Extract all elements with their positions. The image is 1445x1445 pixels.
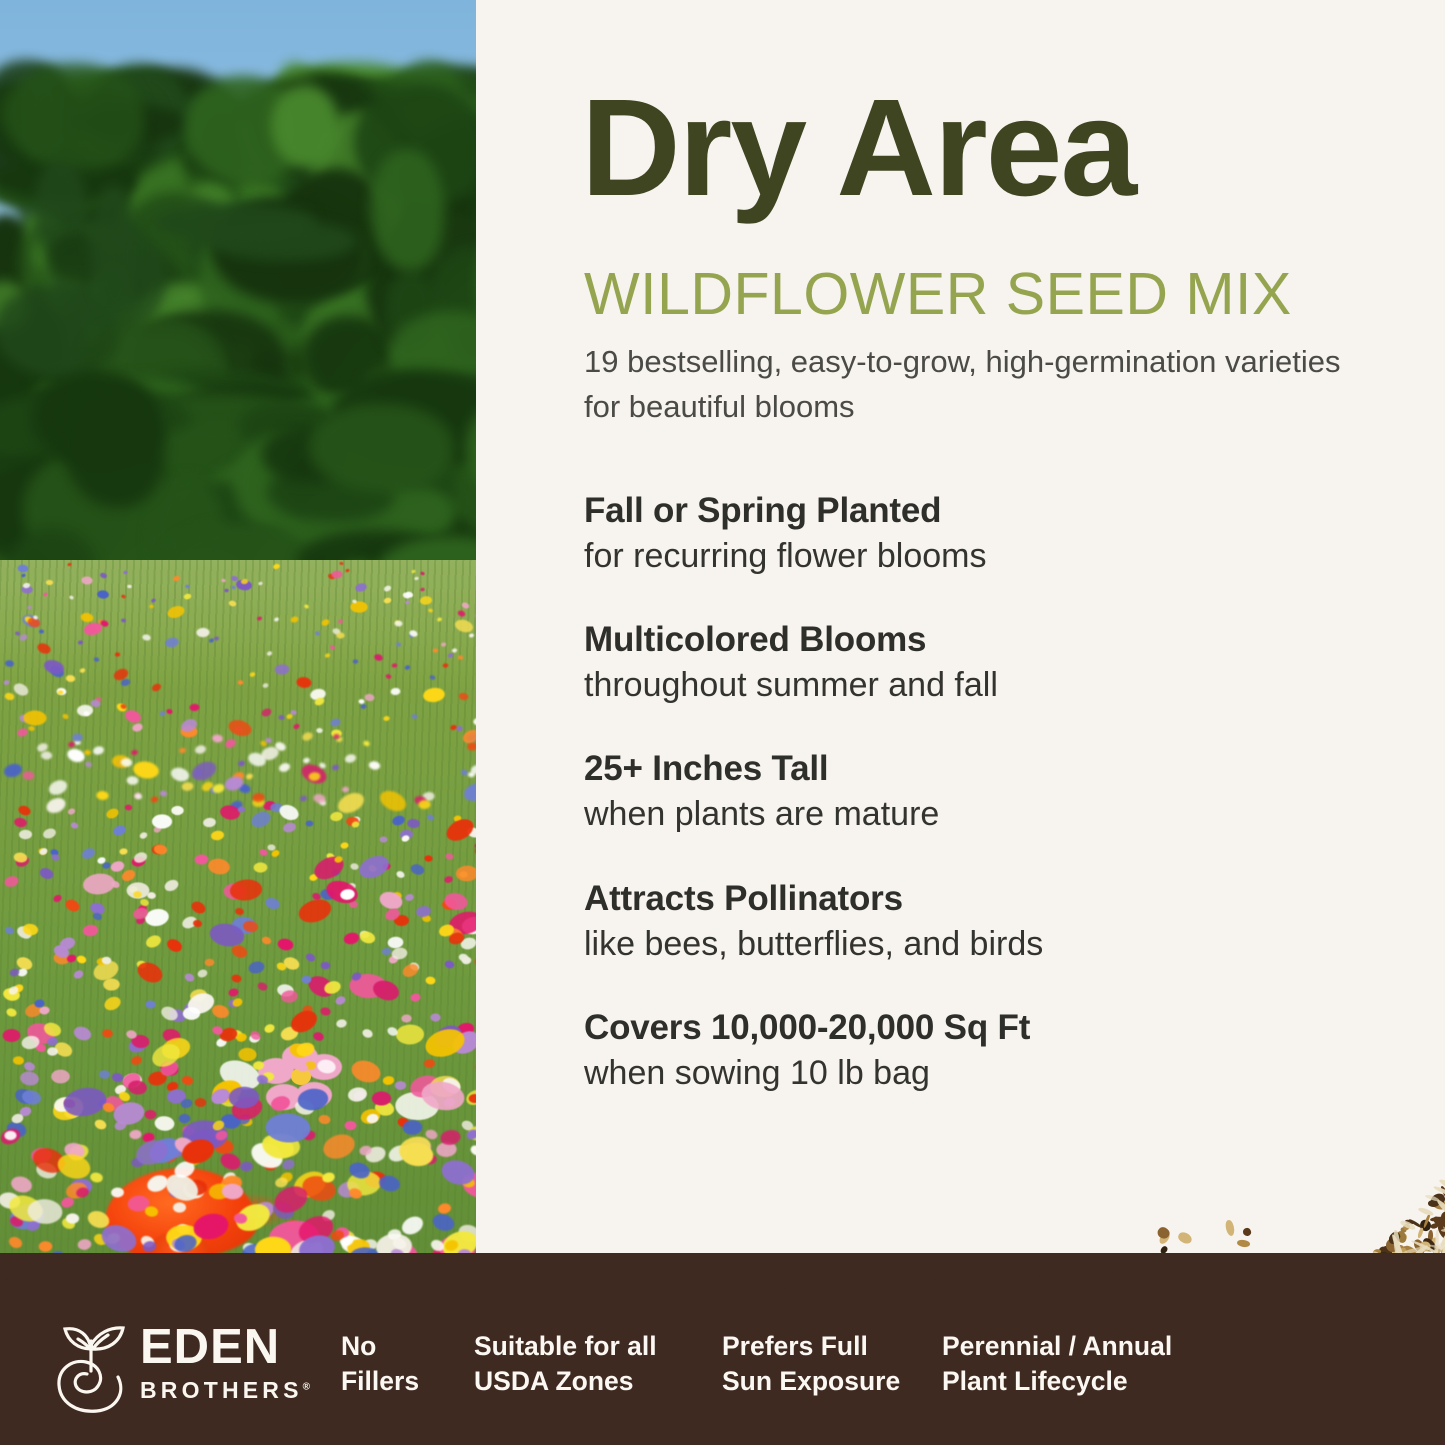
feature-title: Multicolored Blooms: [584, 619, 1344, 661]
wildflower: [46, 580, 53, 585]
wildflower: [394, 1081, 406, 1090]
wildflower: [171, 806, 183, 815]
wildflower: [252, 792, 265, 802]
wildflower: [145, 1000, 155, 1008]
scattered-seed: [1177, 1231, 1194, 1246]
feature-title: Covers 10,000-20,000 Sq Ft: [584, 1007, 1344, 1049]
wildflower: [144, 1109, 156, 1118]
spec-line: Perennial / Annual: [942, 1329, 1172, 1364]
content-panel: Dry Area WILDFLOWER SEED MIX 19 bestsell…: [476, 0, 1445, 1300]
spec-usda-zones: Suitable for all USDA Zones: [474, 1329, 657, 1399]
product-title: Dry Area: [581, 85, 1421, 212]
wildflower: [224, 589, 228, 592]
feature-subtitle: for recurring flower blooms: [584, 534, 1344, 578]
feature-title: 25+ Inches Tall: [584, 748, 1344, 790]
spec-line: Plant Lifecycle: [942, 1364, 1172, 1399]
seed: [1417, 1227, 1424, 1239]
feature-subtitle: when plants are mature: [584, 792, 1344, 836]
wildflower: [391, 663, 397, 668]
wildflower: [237, 680, 243, 685]
feature-item: Covers 10,000-20,000 Sq Ftwhen sowing 10…: [584, 1007, 1344, 1095]
spec-line: USDA Zones: [474, 1364, 657, 1399]
feature-item: Attracts Pollinatorslike bees, butterfli…: [584, 878, 1344, 966]
spec-line: Suitable for all: [474, 1329, 657, 1364]
feature-title: Attracts Pollinators: [584, 878, 1344, 920]
wildflower: [66, 1214, 79, 1224]
scattered-seed: [1242, 1227, 1252, 1237]
wildflower: [152, 814, 172, 828]
wildflower: [352, 599, 357, 603]
scattered-seed: [1155, 1225, 1171, 1241]
wildflower: [352, 659, 358, 663]
spec-line: Fillers: [341, 1364, 419, 1399]
feature-subtitle: throughout summer and fall: [584, 663, 1344, 707]
eden-brothers-logo: EDEN BROTHERS®: [48, 1317, 338, 1417]
wildflower: [468, 1094, 476, 1103]
wildflower: [126, 776, 138, 785]
wildflower: [81, 576, 93, 585]
wildflower: [305, 820, 313, 826]
wildflower: [83, 710, 90, 716]
product-subtitle: WILDFLOWER SEED MIX: [584, 265, 1434, 324]
scattered-seed: [1224, 1219, 1235, 1236]
feature-item: 25+ Inches Tallwhen plants are mature: [584, 748, 1344, 836]
wildflower: [433, 648, 438, 652]
spec-line: Sun Exposure: [722, 1364, 900, 1399]
seed-chaff: [1418, 1206, 1435, 1216]
wildflower: [127, 585, 132, 589]
feature-item: Multicolored Bloomsthroughout summer and…: [584, 619, 1344, 707]
spec-sun-exposure: Prefers Full Sun Exposure: [722, 1329, 900, 1399]
brand-name-eden: EDEN: [140, 1323, 310, 1372]
wildflower: [149, 604, 154, 608]
wildflower: [320, 961, 330, 969]
product-infographic: Dry Area WILDFLOWER SEED MIX 19 bestsell…: [0, 0, 1445, 1445]
sprout-seed-icon: [48, 1319, 134, 1415]
product-lede: 19 bestselling, easy-to-grow, high-germi…: [584, 340, 1344, 429]
wildflower: [358, 699, 364, 704]
wildflower: [173, 1202, 186, 1212]
wildflower-meadow: [0, 560, 476, 1300]
scattered-seed: [1236, 1239, 1250, 1248]
registered-trademark-icon: ®: [303, 1381, 310, 1392]
wildflower: [39, 1241, 53, 1252]
spec-no-fillers: No Fillers: [341, 1329, 419, 1399]
spec-line: No: [341, 1329, 419, 1364]
feature-subtitle: like bees, butterflies, and birds: [584, 922, 1344, 966]
wildflower: [115, 652, 120, 656]
wildflower: [390, 687, 400, 695]
wildflower: [40, 751, 52, 760]
meadow-photo: [0, 0, 476, 1300]
feature-item: Fall or Spring Plantedfor recurring flow…: [584, 490, 1344, 578]
feature-list: Fall or Spring Plantedfor recurring flow…: [584, 490, 1344, 1095]
tree-line: [0, 0, 476, 610]
wildflower: [336, 633, 344, 639]
wildflower: [430, 1013, 441, 1022]
wildflower: [134, 793, 142, 800]
spec-line: Prefers Full: [722, 1329, 900, 1364]
spec-plant-lifecycle: Perennial / Annual Plant Lifecycle: [942, 1329, 1172, 1399]
wildflower: [345, 1120, 357, 1129]
footer-bar: EDEN BROTHERS® No Fillers Suitable for a…: [0, 1253, 1445, 1445]
wildflower: [51, 1070, 70, 1084]
wildflower: [456, 865, 476, 881]
wildflower: [214, 636, 219, 640]
feature-title: Fall or Spring Planted: [584, 490, 1344, 532]
feature-subtitle: when sowing 10 lb bag: [584, 1051, 1344, 1095]
brand-name-brothers: BROTHERS®: [140, 1379, 310, 1402]
wildflower: [84, 749, 91, 755]
